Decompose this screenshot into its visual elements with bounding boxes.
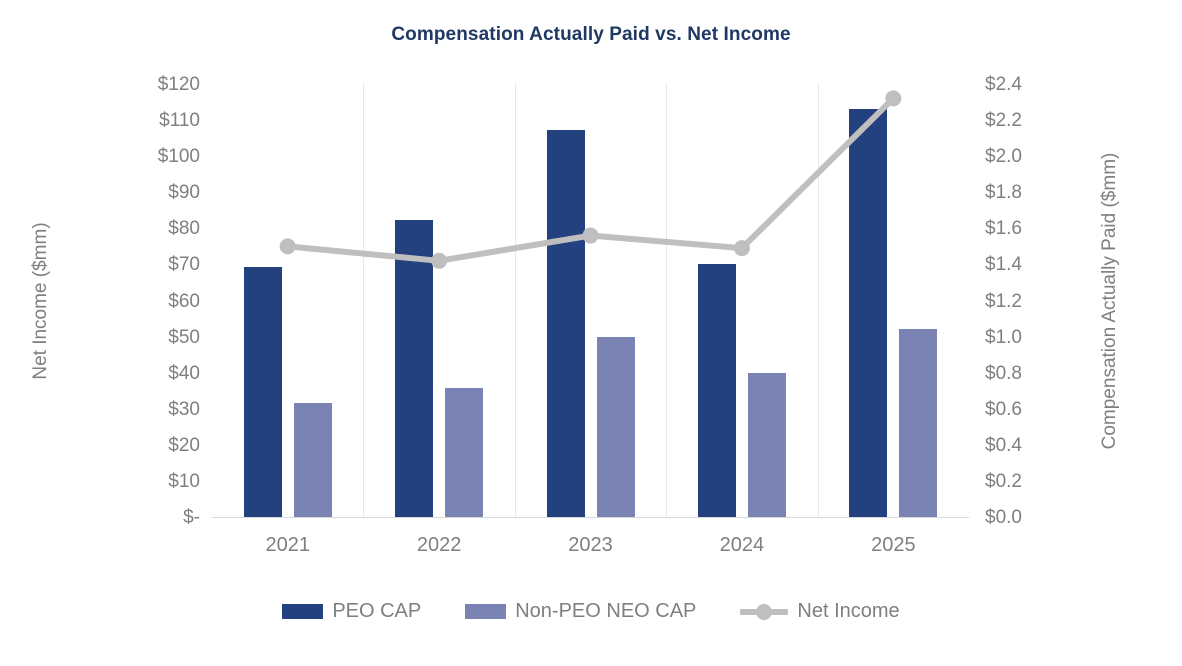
chart-legend: PEO CAPNon-PEO NEO CAPNet Income [0,600,1182,623]
left-axis-tick-label: $60 [168,292,200,311]
legend-label: PEO CAP [332,600,421,623]
bar-group [363,84,514,517]
bar-group [515,84,666,517]
bar-peo-cap[interactable] [698,264,736,517]
right-axis-tick-label: $0.6 [985,400,1022,419]
right-axis-tick-label: $1.4 [985,255,1022,274]
left-axis-tick-label: $- [183,508,200,527]
category-label: 2023 [515,534,666,562]
legend-swatch-icon [282,604,323,619]
left-axis-tick-label: $30 [168,400,200,419]
right-axis-tick-label: $0.0 [985,508,1022,527]
right-axis-title: Compensation Actually Paid ($mm) [1099,151,1121,451]
left-axis-tick-label: $50 [168,328,200,347]
right-axis-tick-label: $1.2 [985,292,1022,311]
bar-peo-cap[interactable] [849,109,887,517]
plot-area: Net Income 2021: 1.5Net Income 2022: 1.4… [212,84,969,517]
bar-non-peo-neo-cap[interactable] [445,388,483,517]
right-axis-tick-label: $2.0 [985,147,1022,166]
right-axis-tick-label: $0.4 [985,436,1022,455]
right-axis-tick-label: $0.2 [985,472,1022,491]
left-axis-ticks: $120$110$100$90$80$70$60$50$40$30$20$10$… [92,84,200,517]
bar-group [666,84,817,517]
bar-group [818,84,969,517]
right-axis-ticks: $2.4$2.2$2.0$1.8$1.6$1.4$1.2$1.0$0.8$0.6… [985,84,1095,517]
left-axis-tick-label: $80 [168,219,200,238]
legend-label: Net Income [797,600,899,623]
legend-item[interactable]: Net Income [740,600,899,623]
left-axis-tick-label: $70 [168,255,200,274]
bar-non-peo-neo-cap[interactable] [294,403,332,517]
legend-line-marker-icon [740,603,788,621]
bar-non-peo-neo-cap[interactable] [597,337,635,517]
category-axis-labels: 20212022202320242025 [212,534,969,562]
bar-peo-cap[interactable] [547,130,585,517]
legend-label: Non-PEO NEO CAP [515,600,696,623]
right-axis-tick-label: $1.0 [985,328,1022,347]
left-axis-tick-label: $20 [168,436,200,455]
legend-item[interactable]: PEO CAP [282,600,421,623]
left-axis-tick-label: $110 [159,111,200,130]
right-axis-tick-label: $2.2 [985,111,1022,130]
bar-peo-cap[interactable] [395,220,433,517]
bar-peo-cap[interactable] [244,267,282,517]
chart-title: Compensation Actually Paid vs. Net Incom… [0,24,1182,46]
left-axis-tick-label: $100 [158,147,200,166]
left-axis-tick-label: $120 [158,75,200,94]
category-label: 2021 [212,534,363,562]
bar-non-peo-neo-cap[interactable] [748,373,786,517]
category-label: 2024 [666,534,817,562]
bars-layer [212,84,969,517]
bar-group [212,84,363,517]
right-axis-tick-label: $0.8 [985,364,1022,383]
left-axis-tick-label: $40 [168,364,200,383]
category-label: 2025 [818,534,969,562]
right-axis-tick-label: $2.4 [985,75,1022,94]
bar-non-peo-neo-cap[interactable] [899,329,937,517]
right-axis-tick-label: $1.8 [985,183,1022,202]
category-label: 2022 [363,534,514,562]
axis-baseline [212,517,969,518]
right-axis-tick-label: $1.6 [985,219,1022,238]
left-axis-tick-label: $90 [168,183,200,202]
left-axis-tick-label: $10 [168,472,200,491]
left-axis-title: Net Income ($mm) [30,201,52,401]
legend-swatch-icon [465,604,506,619]
legend-item[interactable]: Non-PEO NEO CAP [465,600,696,623]
